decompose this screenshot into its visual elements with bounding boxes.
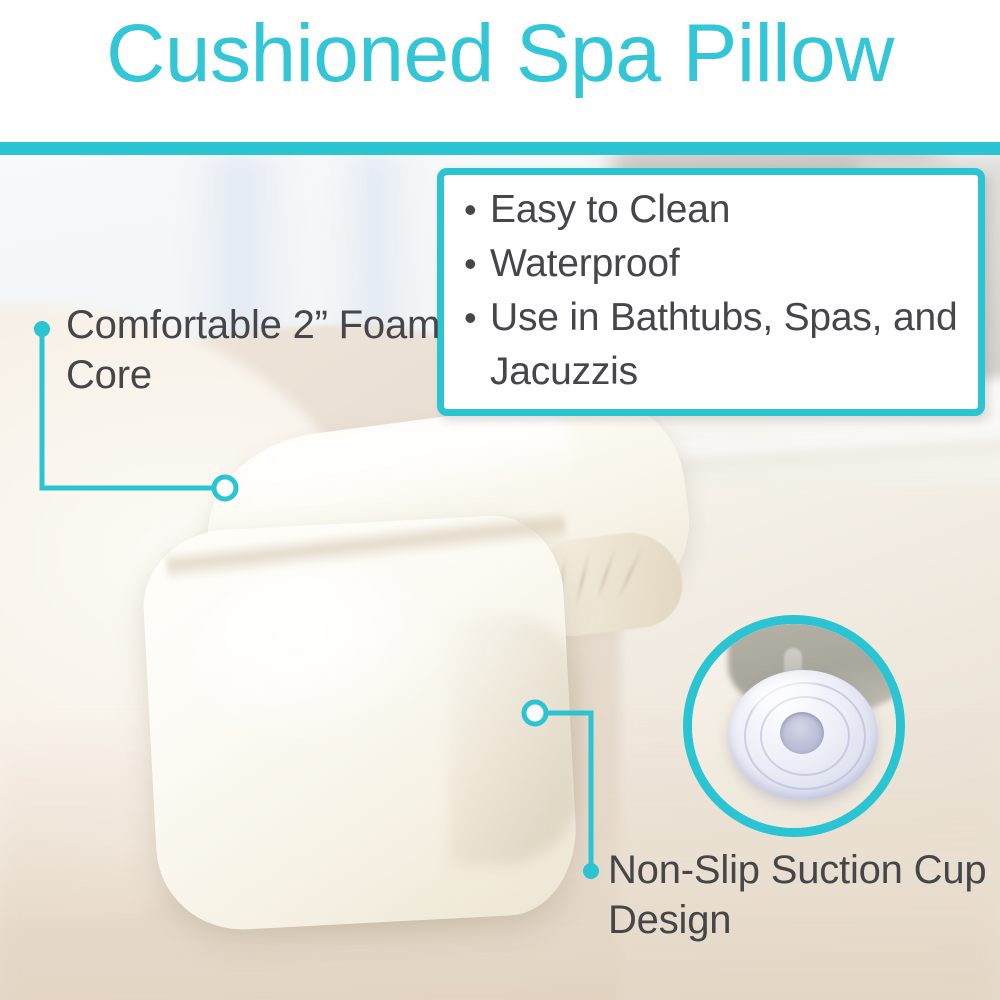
annotation-foam-core: Comfortable 2” Foam Core [66,300,456,400]
feature-bullet-label: Waterproof [490,237,970,291]
feature-bullet-item: • Use in Bathtubs, Spas, and Jacuzzis [464,291,970,399]
feature-bullet-label: Use in Bathtubs, Spas, and Jacuzzis [490,291,970,399]
suction-cup-closeup-inset [683,615,905,837]
pillow-highlight [192,565,462,755]
feature-bullet-label: Easy to Clean [490,183,970,237]
bullet-dot-icon: • [464,183,490,237]
bullet-dot-icon: • [464,291,490,345]
pillow-side-shading [450,615,580,865]
feature-bullet-item: • Easy to Clean [464,183,970,237]
feature-callout-box: • Easy to Clean • Waterproof • Use in Ba… [437,168,985,416]
feature-bullet-list: • Easy to Clean • Waterproof • Use in Ba… [464,183,970,399]
annotation-suction-cup: Non-Slip Suction Cup Design [608,845,1000,945]
feature-bullet-item: • Waterproof [464,237,970,291]
suction-cup-center [780,712,824,754]
page-title: Cushioned Spa Pillow [0,8,1000,100]
infographic-canvas: Comfortable 2” Foam Core Non-Slip Suctio… [0,0,1000,1000]
header-divider [0,142,1000,155]
bullet-dot-icon: • [464,237,490,291]
header-bar: Cushioned Spa Pillow [0,0,1000,142]
